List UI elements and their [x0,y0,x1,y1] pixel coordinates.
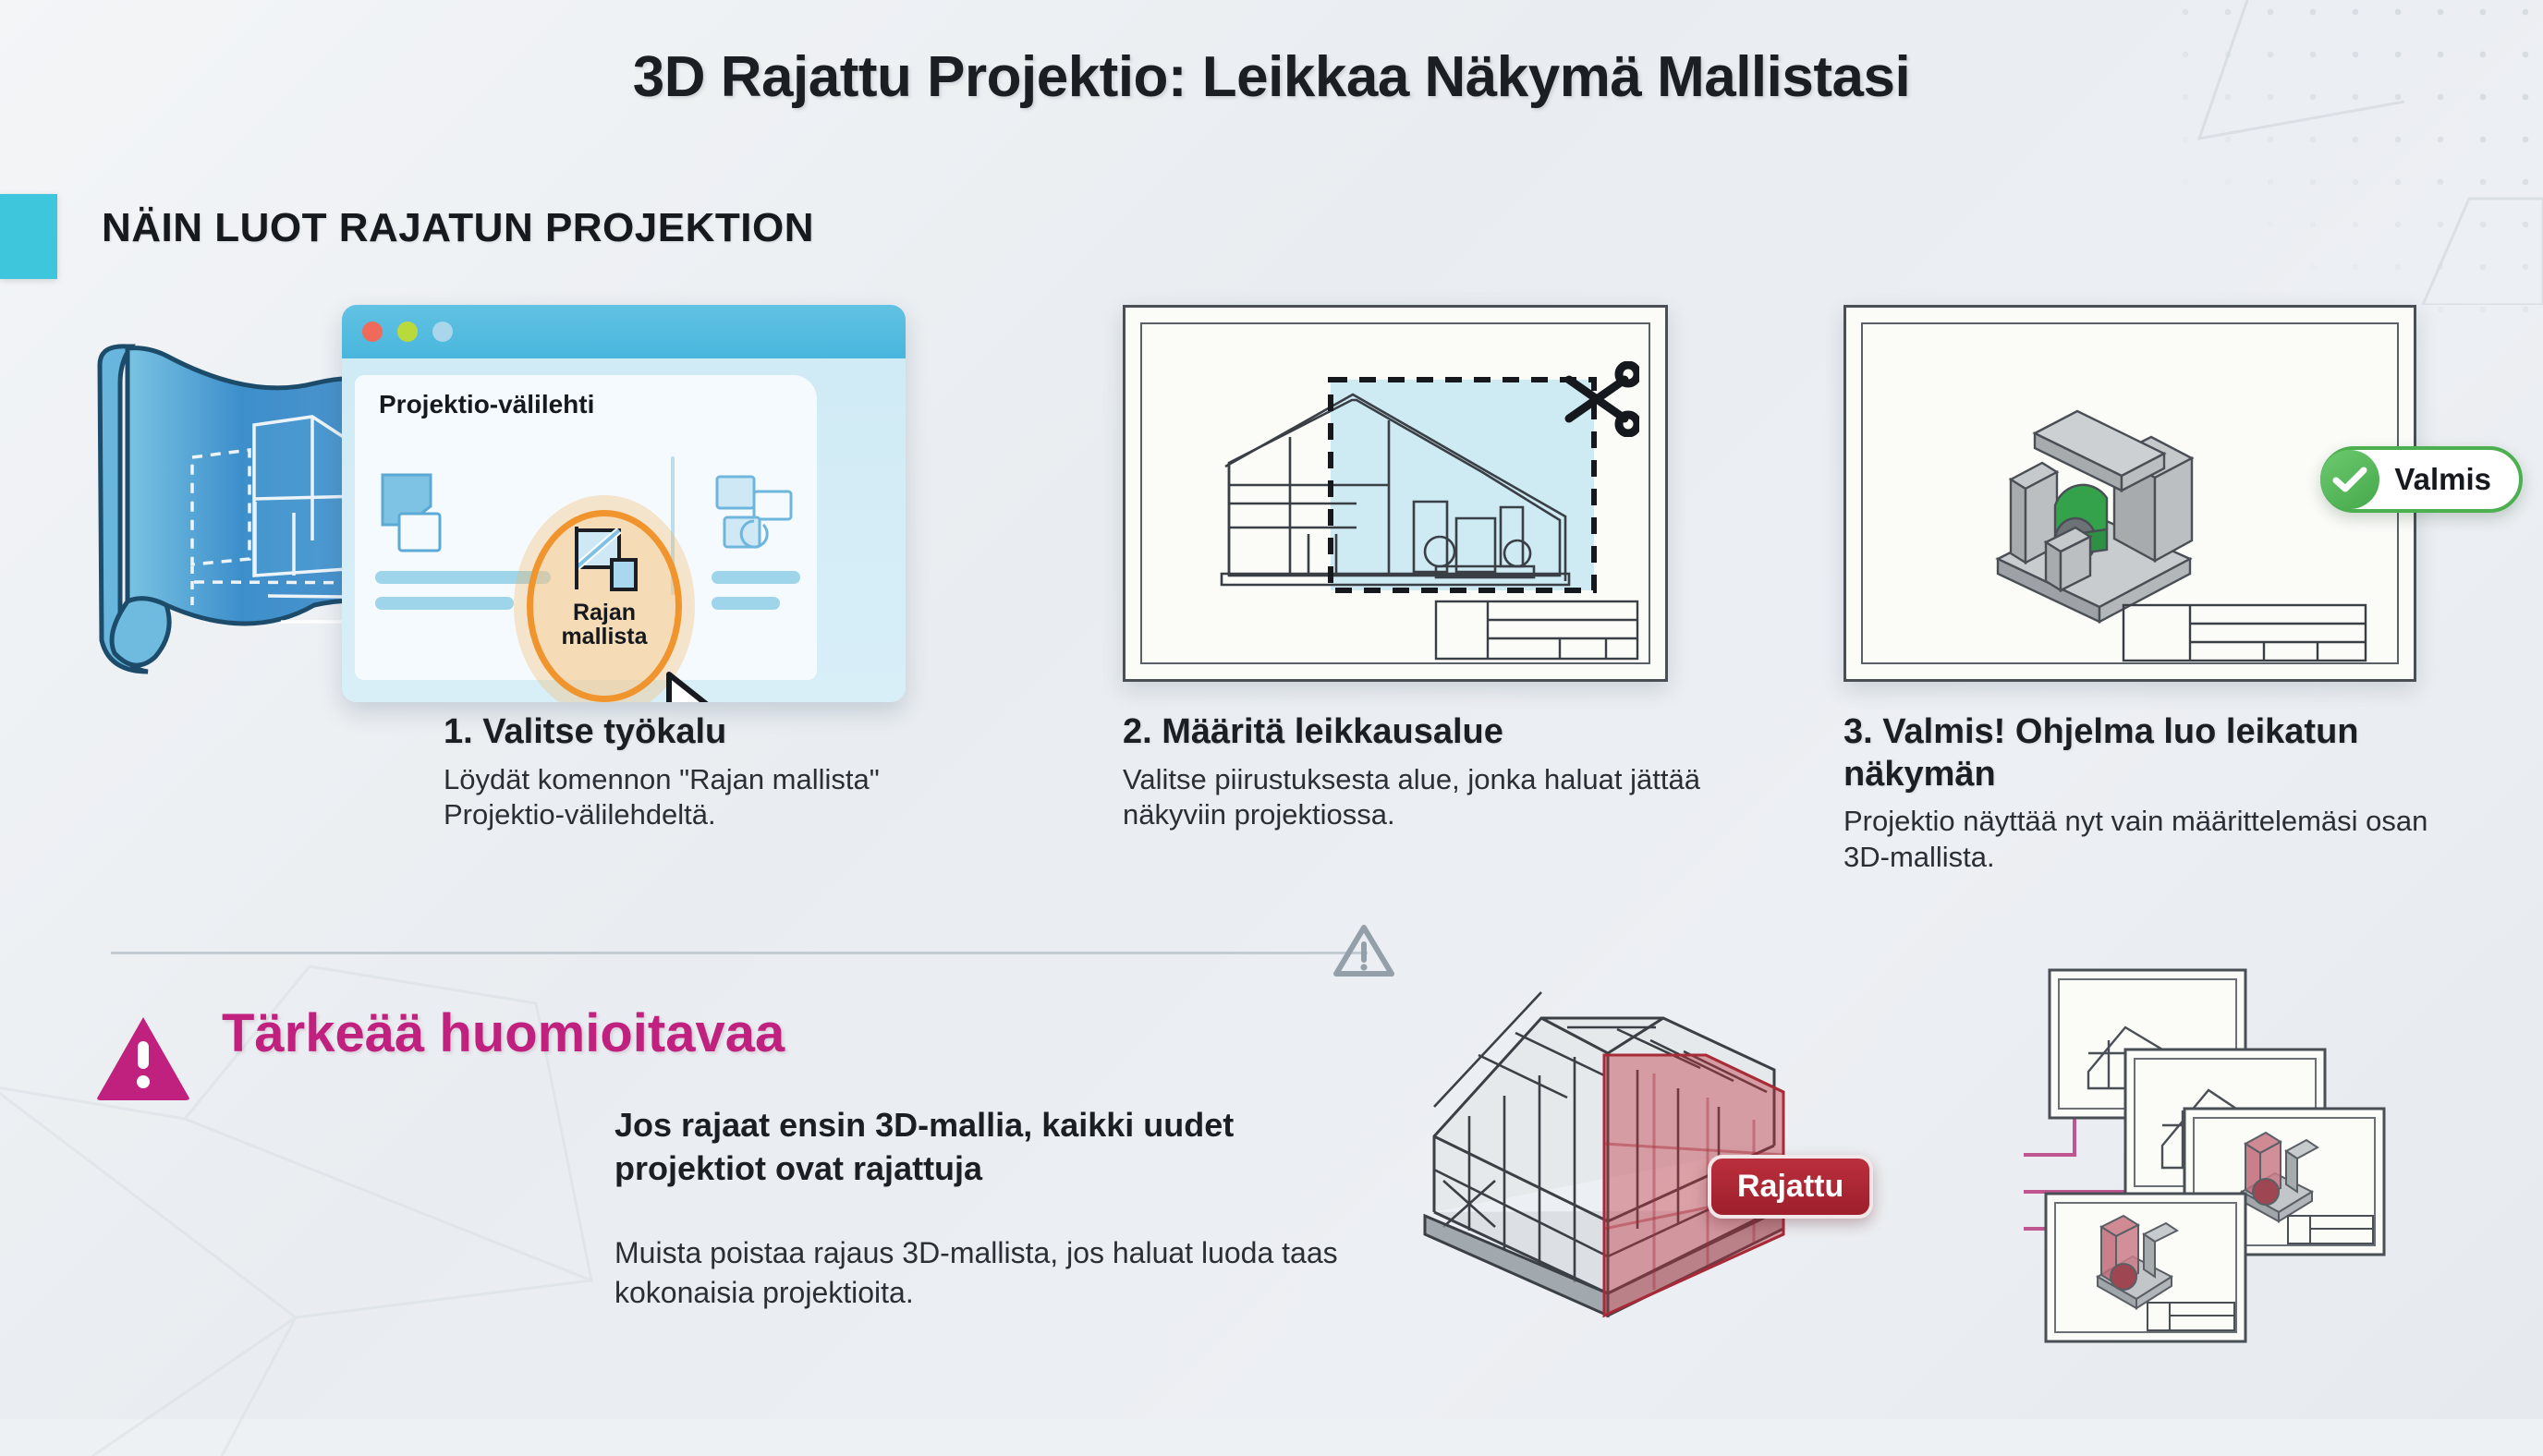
step-3: Valmis 3. Valmis! Ohjelma luo leikatun n… [1843,305,2472,876]
accent-bar [0,194,57,279]
scissors-icon [1560,361,1639,437]
menu-line-4 [712,597,780,610]
step-2: 2. Määritä leikkausalue Valitse piirustu… [1123,305,1723,833]
step-1: Projektio-välilehti [83,305,970,711]
steps-container: Projektio-välilehti [0,305,2543,896]
check-icon [2320,450,2379,509]
tab-projektio[interactable]: Projektio-välilehti [379,390,594,419]
step-2-heading: 2. Määritä leikkausalue [1123,711,1714,754]
clipped-model-illustration: Rajattu [1386,961,2504,1386]
close-dot-icon[interactable] [362,322,383,342]
status-badge-valmis: Valmis [2320,446,2523,513]
rajattu-badge-label: Rajattu [1737,1169,1843,1204]
divider-line-right [286,952,1368,954]
highlight-label-line2: mallista [561,624,647,649]
step-2-text: 2. Määritä leikkausalue Valitse piirustu… [1123,711,1714,833]
window-titlebar [342,305,906,358]
step-2-body: Valitse piirustuksesta alue, jonka halua… [1123,762,1714,834]
status-badge-label: Valmis [2394,462,2491,497]
thumbnail-sheets [2046,970,2384,1341]
ribbon-panel: Projektio-välilehti [355,375,817,680]
menu-line-2 [375,597,514,610]
page-title: 3D Rajattu Projektio: Leikkaa Näkymä Mal… [0,44,2543,110]
step-2-drawing-sheet [1123,305,1668,682]
step-3-body: Projektio näyttää nyt vain määrittelemäs… [1843,804,2435,876]
polygon-network-bottomleft [0,883,647,1456]
rajan-mallista-icon[interactable] [571,525,641,595]
note-body: Muista poistaa rajaus 3D-mallista, jos h… [614,1233,1400,1313]
note-title: Tärkeää huomioitavaa [222,1002,785,1064]
ribbon-toolbar: Rajan mallista [370,453,804,619]
step-3-heading: 3. Valmis! Ohjelma luo leikatun näkymän [1843,711,2435,795]
section-label: NÄIN LUOT RAJATUN PROJEKTION [102,205,814,251]
step-1-text: 1. Valitse työkalu Löydät komennon "Raja… [444,711,961,833]
step-3-drawing-sheet: Valmis [1843,305,2416,682]
minimize-dot-icon[interactable] [397,322,418,342]
view-tool-icon[interactable] [375,467,464,556]
projection-tool-icon[interactable] [712,467,800,556]
alert-triangle-icon [92,1012,194,1104]
step-1-heading: 1. Valitse työkalu [444,711,961,754]
section-divider [111,952,2430,955]
step-1-illustration: Projektio-välilehti [83,305,970,711]
highlight-command-label: Rajan mallista [527,601,682,649]
menu-line-3 [712,571,800,584]
step-3-text: 3. Valmis! Ohjelma luo leikatun näkymän … [1843,711,2435,876]
model-and-sheets-diagram [1386,961,2504,1386]
mouse-cursor-icon [663,671,747,702]
rajattu-badge: Rajattu [1708,1155,1873,1219]
application-window: Projektio-välilehti [342,305,906,702]
note-heading: Jos rajaat ensin 3D-mallia, kaikki uudet… [614,1104,1381,1191]
step-1-body: Löydät komennon "Rajan mallista" Projekt… [444,762,961,834]
highlight-label-line1: Rajan [573,600,636,625]
maximize-dot-icon[interactable] [432,322,453,342]
